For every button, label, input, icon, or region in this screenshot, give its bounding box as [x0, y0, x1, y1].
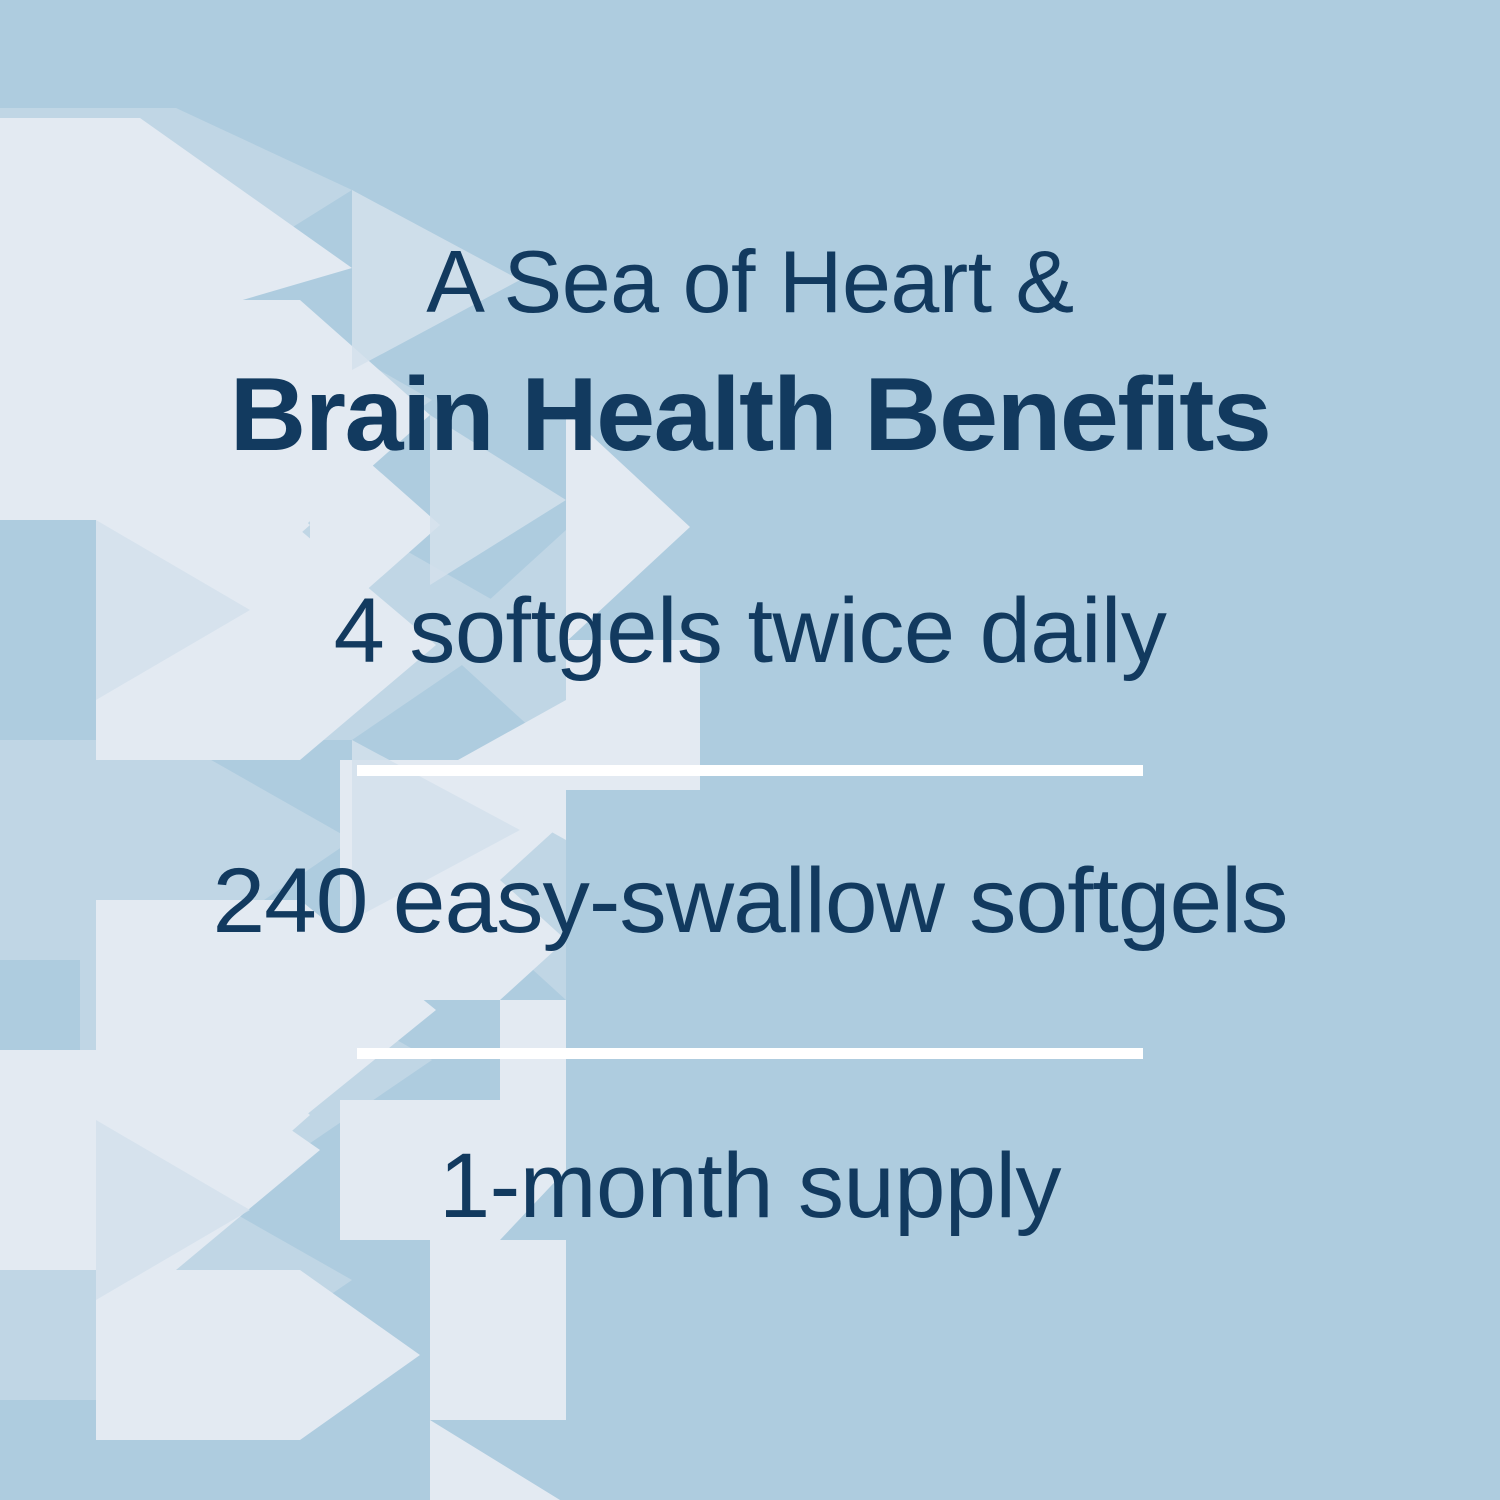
benefit-graphic: A Sea of Heart & Brain Health Benefits 4… [0, 0, 1500, 1500]
fact-dosage: 4 softgels twice daily [0, 585, 1500, 677]
fact-count: 240 easy-swallow softgels [0, 855, 1500, 947]
page-title: Brain Health Benefits [0, 363, 1500, 467]
headline-eyebrow: A Sea of Heart & [0, 238, 1500, 326]
benefit-content: A Sea of Heart & Brain Health Benefits 4… [0, 0, 1500, 1500]
fact-supply-duration: 1-month supply [0, 1140, 1500, 1232]
divider-above-count [357, 765, 1143, 776]
divider-above-supply [357, 1048, 1143, 1059]
